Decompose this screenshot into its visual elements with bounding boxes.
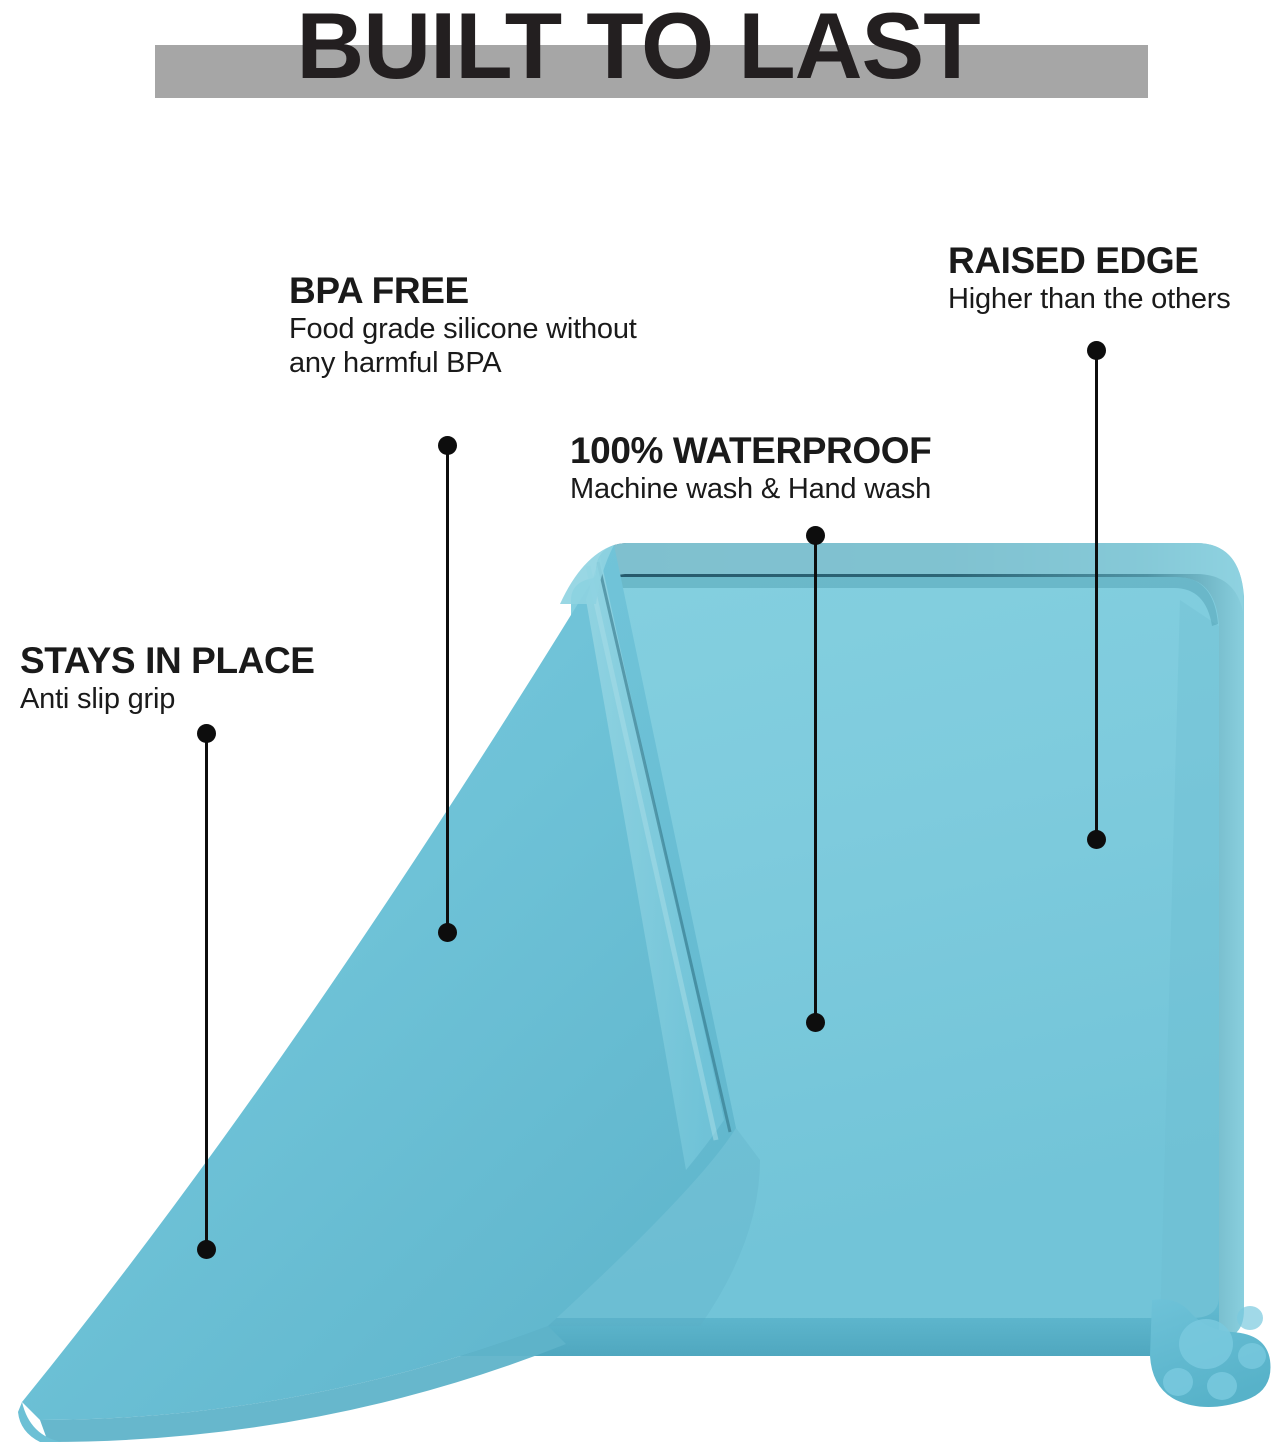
- product-illustration: [0, 0, 1276, 1456]
- leader-line-raised-edge: [1095, 350, 1098, 840]
- callout-stays-in-place-subtitle-line1: Anti slip grip: [20, 683, 175, 715]
- callout-stays-in-place-subtitle: Anti slip grip: [20, 682, 315, 716]
- callout-stays-in-place: STAYS IN PLACE Anti slip grip: [20, 640, 315, 716]
- callout-waterproof-subtitle-line1: Machine wash & Hand wash: [570, 473, 931, 505]
- leader-line-waterproof: [814, 535, 817, 1023]
- paw-print-tab: [1150, 1299, 1271, 1407]
- leader-dot-top-raised-edge: [1087, 341, 1106, 360]
- callout-raised-edge: RAISED EDGE Higher than the others: [948, 240, 1231, 316]
- leader-dot-bottom-raised-edge: [1087, 830, 1106, 849]
- callout-waterproof-subtitle: Machine wash & Hand wash: [570, 472, 931, 506]
- leader-dot-top-stays-in-place: [197, 724, 216, 743]
- callout-bpa-free: BPA FREE Food grade silicone without any…: [289, 270, 637, 380]
- page-title: BUILT TO LAST: [0, 0, 1276, 98]
- leader-line-bpa-free: [446, 445, 449, 933]
- callout-waterproof-title: 100% WATERPROOF: [570, 430, 931, 472]
- callout-raised-edge-subtitle-line1: Higher than the others: [948, 283, 1231, 315]
- callout-bpa-free-subtitle-line1: Food grade silicone without: [289, 313, 637, 345]
- leader-dot-top-bpa-free: [438, 436, 457, 455]
- callout-stays-in-place-title: STAYS IN PLACE: [20, 640, 315, 682]
- callout-raised-edge-title: RAISED EDGE: [948, 240, 1231, 282]
- leader-dot-bottom-stays-in-place: [197, 1240, 216, 1259]
- leader-line-stays-in-place: [205, 733, 208, 1250]
- callout-raised-edge-subtitle: Higher than the others: [948, 282, 1231, 316]
- leader-dot-top-waterproof: [806, 526, 825, 545]
- callout-bpa-free-title: BPA FREE: [289, 270, 637, 312]
- callout-bpa-free-subtitle-line2: any harmful BPA: [289, 346, 637, 380]
- callout-waterproof: 100% WATERPROOF Machine wash & Hand wash: [570, 430, 931, 506]
- leader-dot-bottom-waterproof: [806, 1013, 825, 1032]
- infographic-page: BUILT TO LAST: [0, 0, 1276, 1456]
- leader-dot-bottom-bpa-free: [438, 923, 457, 942]
- callout-bpa-free-subtitle: Food grade silicone without any harmful …: [289, 312, 637, 380]
